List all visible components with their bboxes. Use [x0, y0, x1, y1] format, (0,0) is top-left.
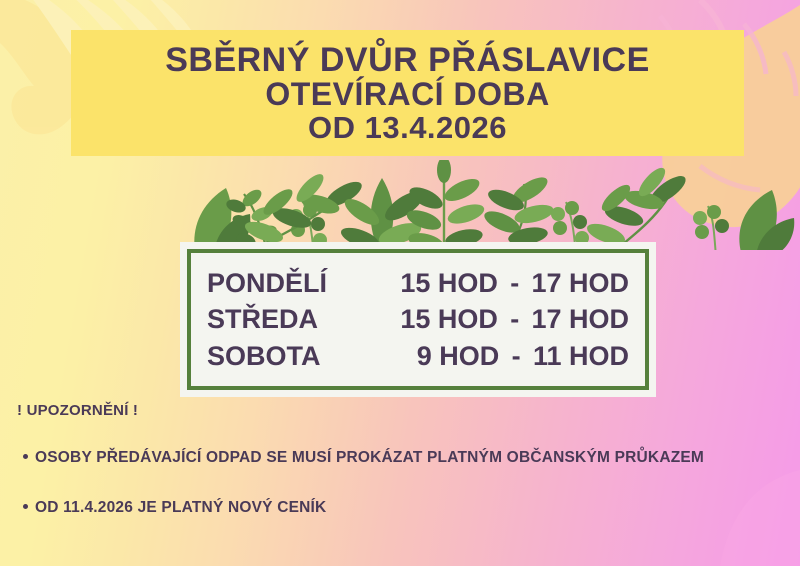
poster-canvas: SBĚRNÝ DVŮR PŘÁSLAVICE OTEVÍRACÍ DOBA OD…: [0, 0, 800, 566]
notice-list: OSOBY PŘEDÁVAJÍCÍ ODPAD SE MUSÍ PROKÁZAT…: [17, 447, 783, 548]
schedule-open-time: 9 HOD: [385, 338, 499, 374]
schedule-box: PONDĚLÍ 15 HOD - 17 HOD STŘEDA 15 HOD - …: [180, 242, 656, 397]
title-line-3: OD 13.4.2026: [308, 112, 507, 145]
title-line-1: SBĚRNÝ DVŮR PŘÁSLAVICE: [165, 42, 650, 78]
foliage-illustration: [0, 160, 800, 250]
schedule-open-time: 15 HOD: [385, 265, 498, 301]
notice-heading: ! UPOZORNĚNÍ !: [17, 402, 138, 419]
table-row: PONDĚLÍ 15 HOD - 17 HOD: [207, 265, 629, 301]
list-item: OSOBY PŘEDÁVAJÍCÍ ODPAD SE MUSÍ PROKÁZAT…: [17, 447, 783, 469]
schedule-day: STŘEDA: [207, 301, 385, 337]
notice-text: OD 11.4.2026 JE PLATNÝ NOVÝ CENÍK: [35, 497, 783, 519]
schedule-open-time: 15 HOD: [385, 301, 498, 337]
schedule-dash: -: [498, 265, 532, 301]
notice-text: OSOBY PŘEDÁVAJÍCÍ ODPAD SE MUSÍ PROKÁZAT…: [35, 447, 783, 469]
schedule-close-time: 17 HOD: [531, 265, 629, 301]
table-row: STŘEDA 15 HOD - 17 HOD: [207, 301, 629, 337]
list-item: OD 11.4.2026 JE PLATNÝ NOVÝ CENÍK: [17, 497, 783, 519]
schedule-day: SOBOTA: [207, 338, 385, 374]
title-banner: SBĚRNÝ DVŮR PŘÁSLAVICE OTEVÍRACÍ DOBA OD…: [71, 30, 744, 156]
schedule-dash: -: [499, 338, 533, 374]
schedule-day: PONDĚLÍ: [207, 265, 385, 301]
table-row: SOBOTA 9 HOD - 11 HOD: [207, 338, 629, 374]
schedule-close-time: 11 HOD: [533, 338, 629, 374]
schedule-dash: -: [498, 301, 532, 337]
bullet-icon: [17, 447, 35, 459]
schedule-close-time: 17 HOD: [531, 301, 629, 337]
bullet-icon: [17, 497, 35, 509]
schedule-inner-border: PONDĚLÍ 15 HOD - 17 HOD STŘEDA 15 HOD - …: [187, 249, 649, 390]
title-line-2: OTEVÍRACÍ DOBA: [265, 78, 549, 112]
